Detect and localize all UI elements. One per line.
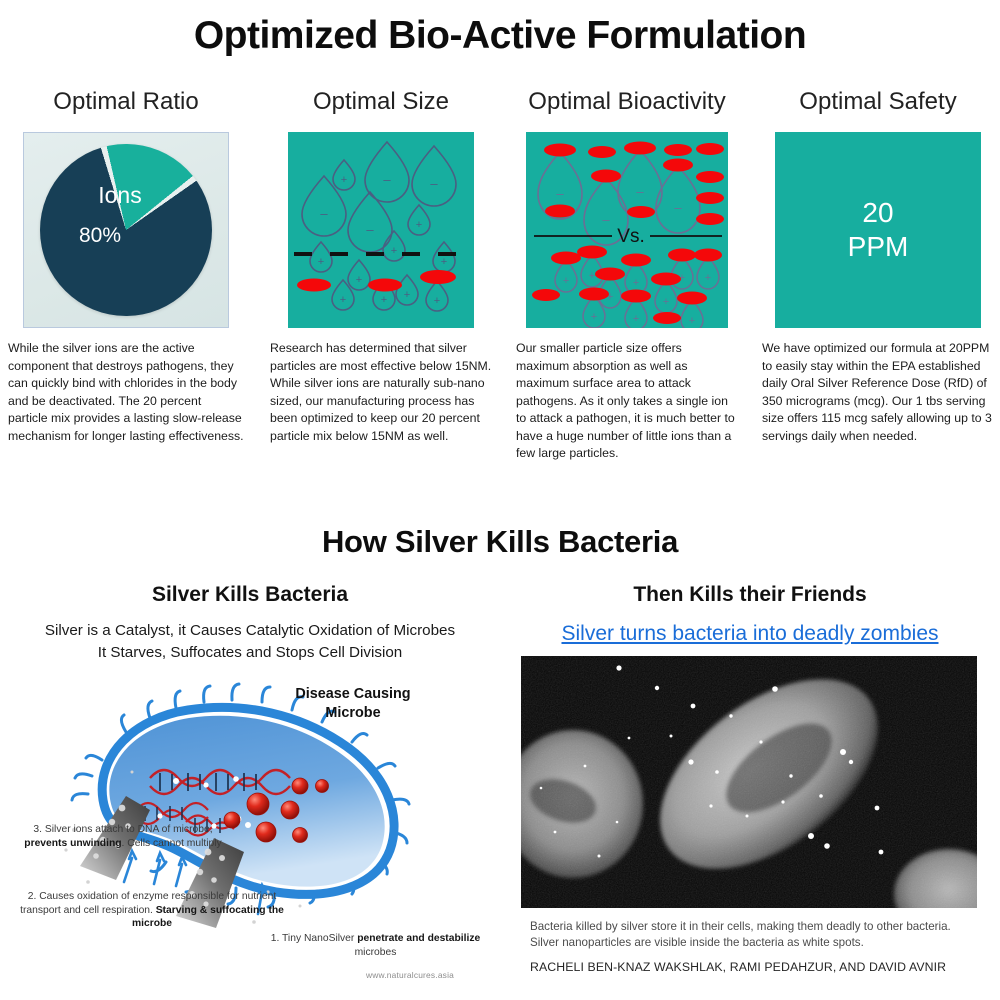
svg-text:+: + bbox=[591, 311, 597, 323]
cards-row: Optimal Ratio Ions 80% While the silver … bbox=[0, 86, 1000, 486]
svg-text:–: – bbox=[366, 222, 374, 237]
left-panel-heading: Silver Kills Bacteria bbox=[0, 583, 500, 607]
step3-text-b: . Cells cannot multiply bbox=[122, 838, 222, 849]
photo-caption: Bacteria killed by silver store it in th… bbox=[530, 919, 960, 951]
microbe-diagram-label: Disease Causing Microbe bbox=[278, 685, 428, 723]
svg-text:+: + bbox=[663, 296, 669, 308]
pie-chart-figure: Ions 80% bbox=[23, 132, 229, 328]
svg-text:–: – bbox=[320, 206, 328, 221]
svg-text:+: + bbox=[633, 313, 639, 325]
svg-text:–: – bbox=[602, 212, 610, 227]
svg-text:+: + bbox=[434, 295, 440, 307]
vs-comparison-figure: –– –– bbox=[526, 132, 728, 328]
card-title-optimal-ratio: Optimal Ratio bbox=[8, 86, 244, 118]
svg-text:+: + bbox=[563, 275, 569, 287]
card-body-optimal-size: Research has determined that silver part… bbox=[270, 340, 492, 445]
pie-slices: Ions 80% bbox=[40, 144, 212, 316]
svg-text:–: – bbox=[383, 172, 391, 187]
left-panel-subheading: Silver is a Catalyst, it Causes Catalyti… bbox=[0, 620, 500, 664]
svg-text:+: + bbox=[589, 270, 595, 282]
step1-text-bold: penetrate and destabilize bbox=[357, 933, 480, 944]
card-body-optimal-ratio: While the silver ions are the active com… bbox=[8, 340, 244, 445]
svg-text:–: – bbox=[674, 200, 682, 215]
svg-text:+: + bbox=[633, 277, 639, 289]
step3-text-bold: prevents unwinding bbox=[24, 838, 121, 849]
right-panel-heading: Then Kills their Friends bbox=[500, 583, 1000, 607]
pie-label-percent: 80% bbox=[54, 224, 146, 248]
source-watermark: www.naturalcures.asia bbox=[330, 970, 490, 980]
svg-text:+: + bbox=[416, 219, 422, 231]
svg-text:+: + bbox=[340, 294, 346, 306]
pie-label-ions: Ions bbox=[66, 182, 174, 209]
droplet-size-figure: –– –– ++ ++ ++ ++ ++ bbox=[288, 132, 474, 328]
svg-text:+: + bbox=[341, 174, 347, 186]
page-title: Optimized Bio-Active Formulation bbox=[0, 14, 1000, 58]
pie-chart: Ions 80% bbox=[40, 144, 212, 316]
card-title-optimal-size: Optimal Size bbox=[270, 86, 492, 118]
microbe-step-3-caption: 3. Silver ions attach to DNA of microbe,… bbox=[18, 823, 228, 850]
zombies-article-link[interactable]: Silver turns bacteria into deadly zombie… bbox=[500, 622, 1000, 646]
ppm-callout-figure: 20 PPM bbox=[775, 132, 981, 328]
svg-text:+: + bbox=[404, 289, 410, 301]
card-title-optimal-safety: Optimal Safety bbox=[762, 86, 994, 118]
svg-text:+: + bbox=[689, 315, 695, 327]
left-sub-line1: Silver is a Catalyst, it Causes Catalyti… bbox=[0, 620, 500, 642]
svg-text:–: – bbox=[636, 184, 644, 199]
card-body-optimal-bioactivity: Our smaller particle size offers maximum… bbox=[516, 340, 738, 463]
svg-text:–: – bbox=[556, 186, 564, 201]
svg-text:+: + bbox=[381, 294, 387, 306]
microbe-step-2-caption: 2. Causes oxidation of enzyme responsibl… bbox=[12, 890, 292, 931]
card-body-optimal-safety: We have optimized our formula at 20PPM t… bbox=[762, 340, 994, 445]
svg-text:+: + bbox=[391, 245, 397, 257]
bacteria-microscope-photo bbox=[521, 656, 977, 908]
step1-text-b: microbes bbox=[355, 947, 397, 958]
svg-text:+: + bbox=[356, 274, 362, 286]
section2-title: How Silver Kills Bacteria bbox=[0, 524, 1000, 560]
infographic-page: Optimized Bio-Active Formulation Optimal… bbox=[0, 0, 1000, 1000]
step1-text-a: 1. Tiny NanoSilver bbox=[271, 933, 357, 944]
card-optimal-safety: Optimal Safety 20 PPM We have optimized … bbox=[762, 86, 994, 445]
svg-text:+: + bbox=[318, 256, 324, 268]
photo-credit: RACHELI BEN-KNAZ WAKSHLAK, RAMI PEDAHZUR… bbox=[530, 960, 980, 974]
card-title-optimal-bioactivity: Optimal Bioactivity bbox=[516, 86, 738, 118]
step3-text-a: 3. Silver ions attach to DNA of microbe, bbox=[33, 824, 212, 835]
microbe-diagram: Disease Causing Microbe 3. Silver ions a… bbox=[0, 660, 500, 990]
ppm-value: 20 bbox=[775, 196, 981, 230]
card-optimal-bioactivity: Optimal Bioactivity –– –– bbox=[516, 86, 738, 463]
svg-text:–: – bbox=[430, 176, 438, 191]
droplet-diagram-icon: –– –– ++ ++ ++ ++ ++ bbox=[288, 132, 474, 328]
card-optimal-size: Optimal Size bbox=[270, 86, 492, 445]
microbe-step-1-caption: 1. Tiny NanoSilver penetrate and destabi… bbox=[268, 932, 483, 959]
svg-text:+: + bbox=[441, 256, 447, 268]
vs-comparison-icon: –– –– bbox=[526, 132, 728, 328]
microscope-image bbox=[521, 656, 977, 908]
ppm-unit: PPM bbox=[775, 230, 981, 264]
svg-text:+: + bbox=[705, 272, 711, 284]
card-optimal-ratio: Optimal Ratio Ions 80% While the silver … bbox=[8, 86, 244, 445]
vs-label: Vs. bbox=[617, 226, 644, 247]
ppm-callout: 20 PPM bbox=[775, 196, 981, 264]
